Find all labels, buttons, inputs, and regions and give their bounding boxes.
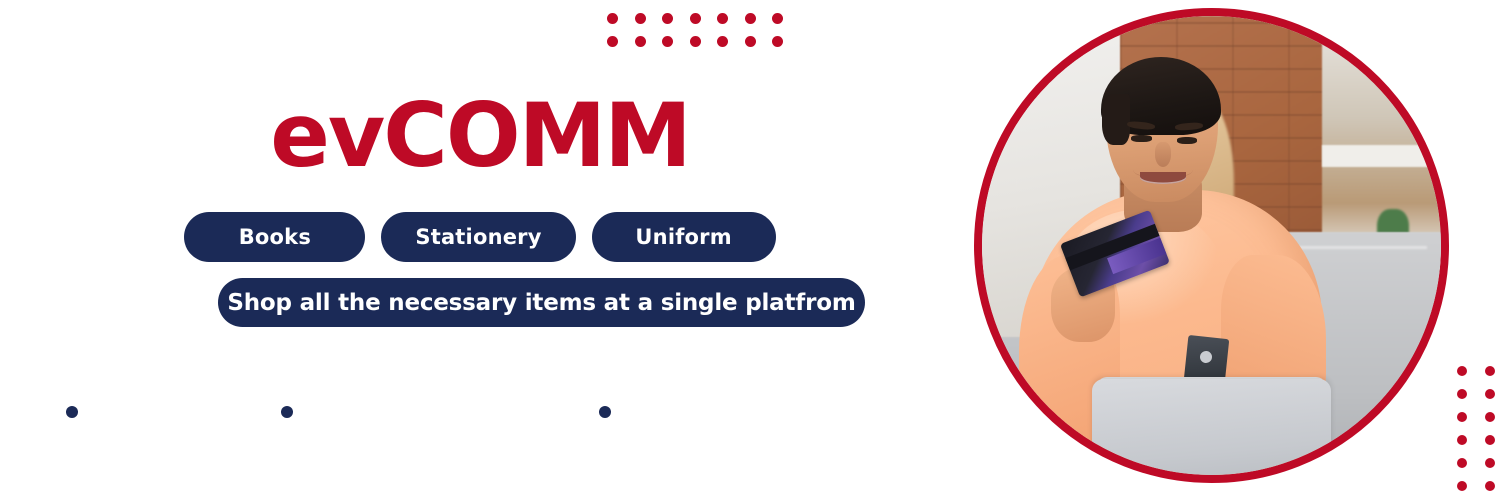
dot (1485, 389, 1495, 399)
photo-laptop (1092, 379, 1331, 475)
category-button-stationery[interactable]: Stationery (381, 212, 575, 262)
dot (1457, 412, 1467, 422)
dot (1485, 481, 1495, 491)
photo-bg-shelf-plank (1322, 145, 1441, 168)
dot (1457, 435, 1467, 445)
category-button-uniform[interactable]: Uniform (592, 212, 776, 262)
photo-person-hair-side (1102, 94, 1130, 144)
banner-content: evCOMM Books Stationery Uniform Shop all… (0, 0, 960, 500)
promo-banner: evCOMM Books Stationery Uniform Shop all… (0, 0, 1500, 500)
hero-photo-circle (974, 8, 1449, 483)
dot (1457, 481, 1467, 491)
dot (1457, 458, 1467, 468)
tagline-bar: Shop all the necessary items at a single… (218, 278, 865, 327)
dot (1485, 435, 1495, 445)
photo-person-eye-right (1177, 137, 1198, 144)
dot (1485, 366, 1495, 376)
decorative-dot-grid-right (1457, 366, 1500, 500)
category-button-row: Books Stationery Uniform (0, 212, 960, 262)
dot (1457, 389, 1467, 399)
hero-photo (982, 16, 1441, 475)
dot (1457, 366, 1467, 376)
dot (1485, 458, 1495, 468)
tagline-text: Shop all the necessary items at a single… (227, 290, 855, 316)
category-button-books[interactable]: Books (184, 212, 365, 262)
photo-person-mouth (1140, 172, 1186, 184)
brand-logo: evCOMM (0, 92, 960, 180)
dot (1485, 412, 1495, 422)
photo-person-eye-left (1131, 135, 1152, 142)
